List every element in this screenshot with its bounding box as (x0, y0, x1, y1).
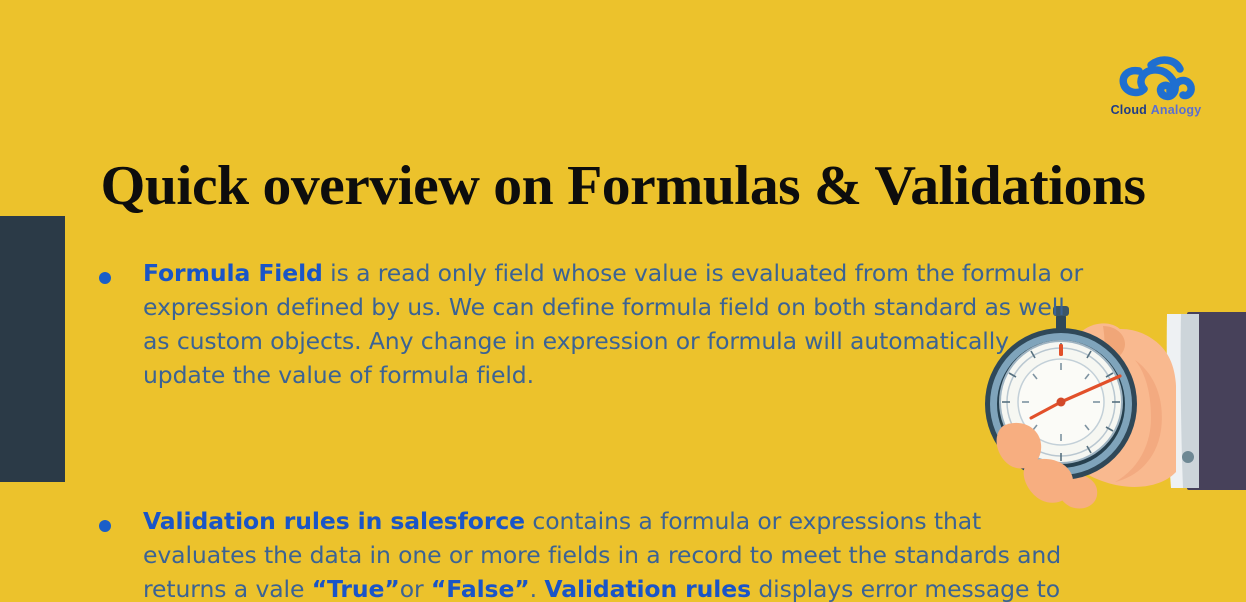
plain-text: or (400, 575, 431, 602)
slide-body: Formula Field is a read only field whose… (86, 232, 1086, 602)
logo-wordmark: Cloud Analogy (1106, 104, 1206, 117)
cloud-swirl-icon (1113, 55, 1199, 103)
emphasized-text: Validation rules (544, 575, 751, 602)
logo-word-analogy: Analogy (1151, 103, 1202, 117)
slide-title: Quick overview on Formulas & Validations (0, 156, 1246, 216)
slide-canvas: Cloud Analogy Quick overview on Formulas… (0, 0, 1246, 602)
bullet-item-validation-rules: Validation rules in salesforce contains … (86, 504, 1086, 602)
emphasized-text: Validation rules in salesforce (143, 507, 525, 535)
logo-word-cloud: Cloud (1111, 103, 1147, 117)
bullet-dot-icon (99, 520, 111, 532)
bullet-text-validation-rules: Validation rules in salesforce contains … (143, 504, 1086, 602)
left-decor-block (0, 216, 65, 482)
bullet-item-formula-field: Formula Field is a read only field whose… (86, 256, 1086, 392)
cloud-analogy-logo[interactable]: Cloud Analogy (1106, 55, 1206, 127)
bullet-dot-icon (99, 272, 111, 284)
plain-text: . (530, 575, 545, 602)
emphasized-text: Formula Field (143, 259, 323, 287)
emphasized-text: “True” (312, 575, 400, 602)
emphasized-text: “False” (431, 575, 530, 602)
bullet-text-formula-field: Formula Field is a read only field whose… (143, 256, 1086, 392)
